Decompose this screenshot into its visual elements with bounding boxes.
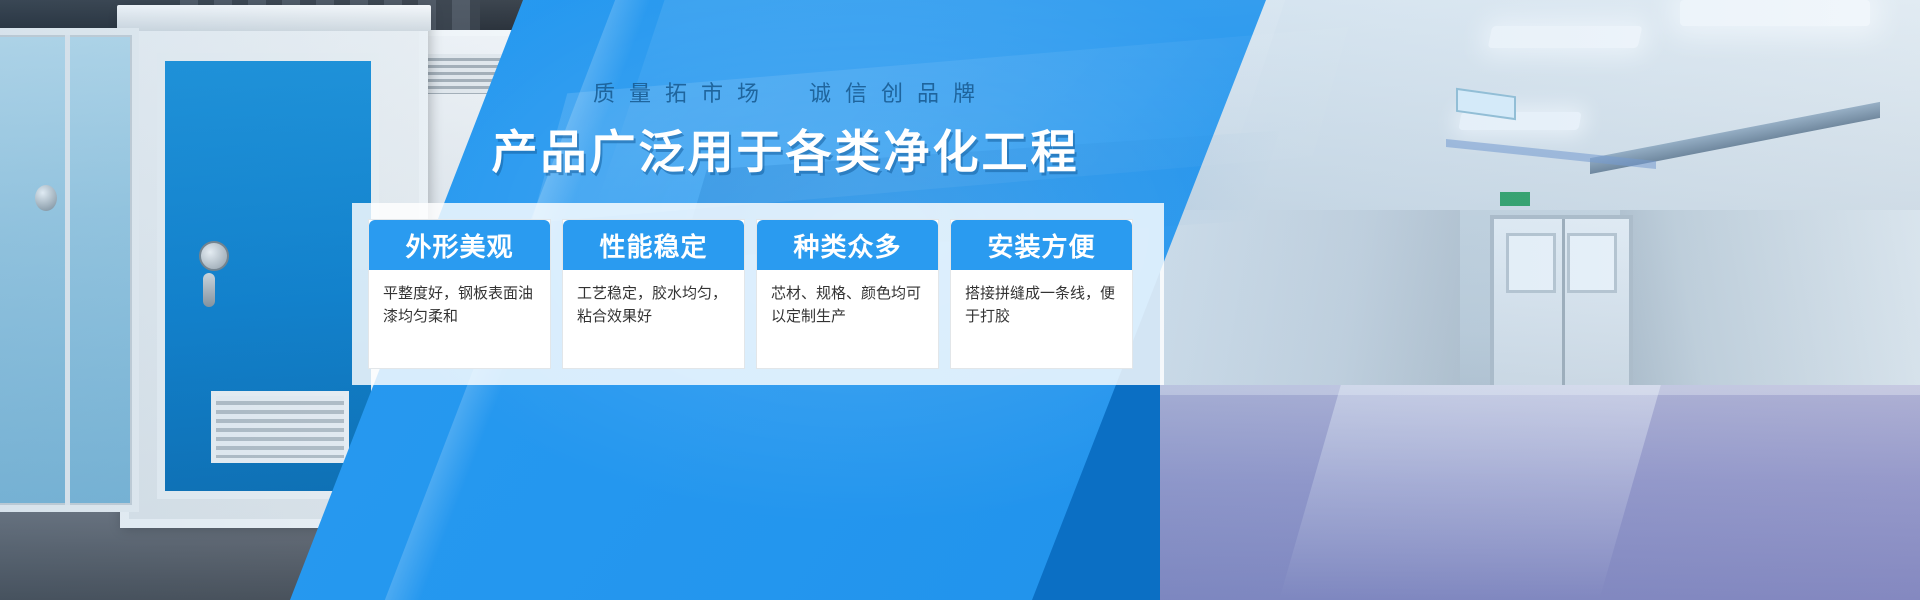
feature-cards-panel: 外形美观 平整度好，钢板表面油漆均匀柔和 性能稳定 工艺稳定，胶水均匀，粘合效果… [352,203,1164,385]
feature-card[interactable]: 种类众多 芯材、规格、颜色均可以定制生产 [756,219,939,369]
feature-card-text: 工艺稳定，胶水均匀，粘合效果好 [563,270,744,368]
feature-card-title: 外形美观 [369,220,550,270]
feature-card-text: 搭接拼缝成一条线，便于打胶 [951,270,1132,368]
feature-card[interactable]: 安装方便 搭接拼缝成一条线，便于打胶 [950,219,1133,369]
banner-subtitle: 质量拓市场 诚信创品牌 [0,76,1568,108]
feature-card-text: 平整度好，钢板表面油漆均匀柔和 [369,270,550,368]
headline-group: 质量拓市场 诚信创品牌 产品广泛用于各类净化工程 [0,0,1920,200]
promo-banner: 质量拓市场 诚信创品牌 产品广泛用于各类净化工程 外形美观 平整度好，钢板表面油… [0,0,1920,600]
feature-card[interactable]: 外形美观 平整度好，钢板表面油漆均匀柔和 [368,219,551,369]
feature-card-title: 安装方便 [951,220,1132,270]
feature-card-text: 芯材、规格、颜色均可以定制生产 [757,270,938,368]
feature-card[interactable]: 性能稳定 工艺稳定，胶水均匀，粘合效果好 [562,219,745,369]
feature-card-title: 种类众多 [757,220,938,270]
banner-headline: 产品广泛用于各类净化工程 [0,116,1568,182]
feature-card-title: 性能稳定 [563,220,744,270]
